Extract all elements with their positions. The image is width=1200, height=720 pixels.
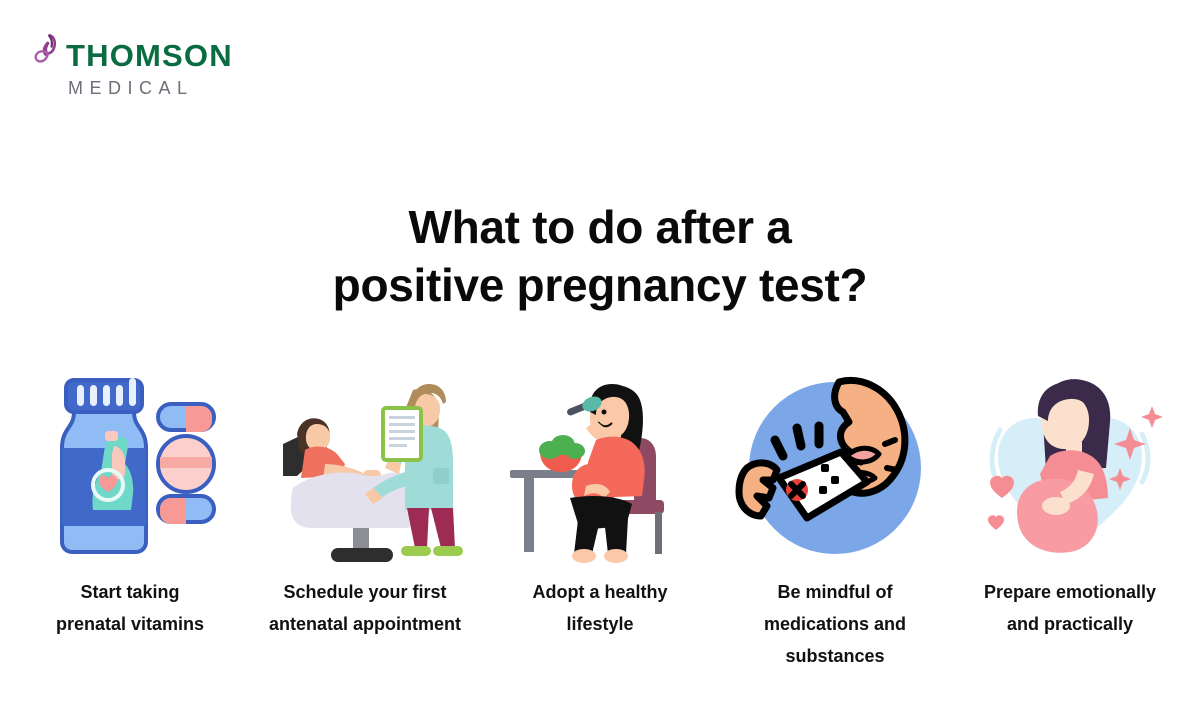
vitamin-bottle-and-pills-icon xyxy=(30,372,230,564)
brand-name: THOMSON xyxy=(66,40,233,71)
caption-line-1: Start taking xyxy=(80,582,179,602)
caption-line-1: Adopt a healthy xyxy=(532,582,667,602)
caption-line-1: Be mindful of xyxy=(778,582,893,602)
caption-line-3: substances xyxy=(785,646,884,666)
refuse-medication-icon xyxy=(735,372,935,564)
brand-subtitle: MEDICAL xyxy=(68,79,233,97)
caption-line-2: lifestyle xyxy=(566,614,633,634)
steps-row: Start taking prenatal vitamins xyxy=(0,372,1200,672)
caption-line-2: antenatal appointment xyxy=(269,614,461,634)
pregnant-woman-with-hearts-icon xyxy=(970,372,1170,564)
caption-line-2: medications and xyxy=(764,614,906,634)
butterfly-swirl-icon xyxy=(28,32,62,72)
step-caption: Adopt a healthy lifestyle xyxy=(495,576,705,640)
step-medications-and-substances: Be mindful of medications and substances xyxy=(719,372,951,672)
antenatal-consultation-icon xyxy=(265,372,465,564)
step-caption: Be mindful of medications and substances xyxy=(730,576,940,672)
caption-line-1: Prepare emotionally xyxy=(984,582,1156,602)
pregnant-woman-eating-salad-icon xyxy=(500,372,700,564)
step-healthy-lifestyle: Adopt a healthy lifestyle xyxy=(484,372,716,640)
step-prepare-emotionally: Prepare emotionally and practically xyxy=(954,372,1186,640)
caption-line-1: Schedule your first xyxy=(283,582,446,602)
brand-logo: THOMSON MEDICAL xyxy=(28,32,233,97)
caption-line-2: and practically xyxy=(1007,614,1133,634)
page-title-line-2: positive pregnancy test? xyxy=(0,257,1200,315)
step-prenatal-vitamins: Start taking prenatal vitamins xyxy=(14,372,246,640)
step-antenatal-appointment: Schedule your first antenatal appointmen… xyxy=(249,372,481,640)
step-caption: Prepare emotionally and practically xyxy=(965,576,1175,640)
step-caption: Schedule your first antenatal appointmen… xyxy=(260,576,470,640)
caption-line-2: prenatal vitamins xyxy=(56,614,204,634)
page-title-line-1: What to do after a xyxy=(0,199,1200,257)
step-caption: Start taking prenatal vitamins xyxy=(25,576,235,640)
page-title: What to do after a positive pregnancy te… xyxy=(0,199,1200,315)
